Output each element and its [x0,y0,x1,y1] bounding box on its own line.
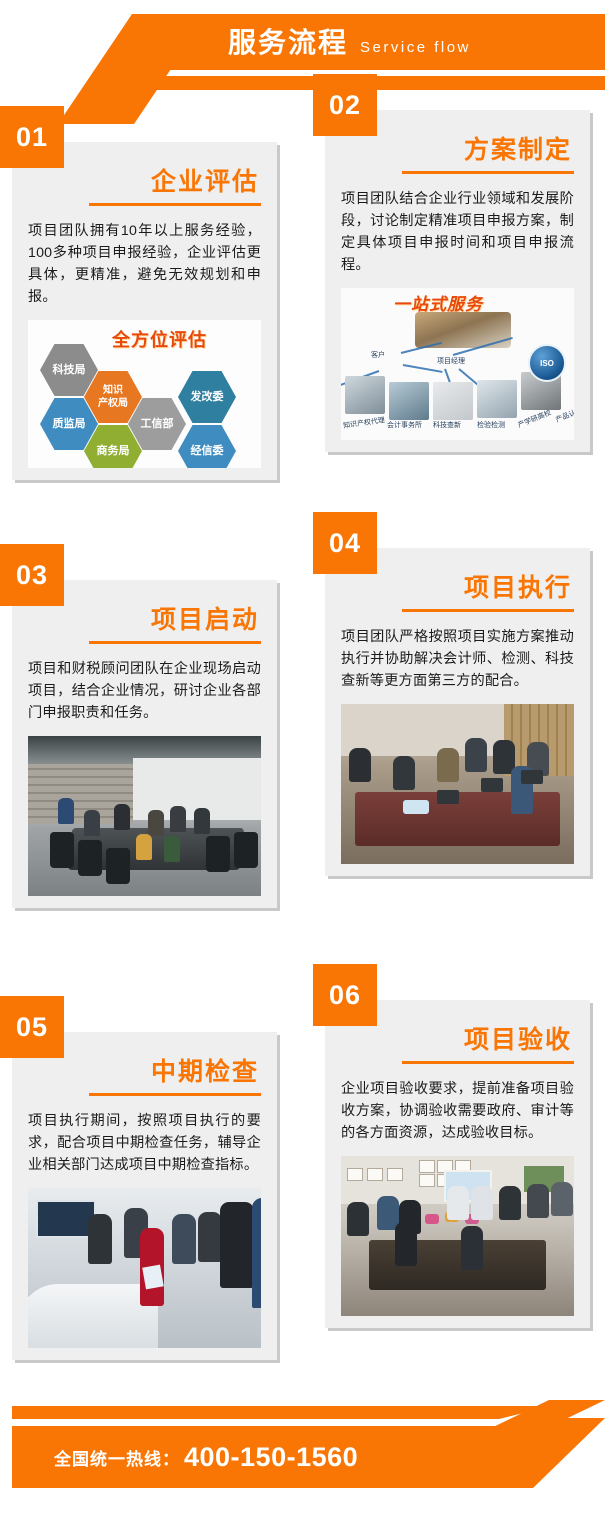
step-number-badge: 02 [313,74,377,136]
figure-title: 全方位评估 [112,326,207,352]
step-number-badge: 01 [0,106,64,168]
card-description: 项目和财税顾问团队在企业现场启动项目，结合企业情况，研讨企业各部门申报职责和任务… [28,658,261,724]
card-body: 方案制定 项目团队结合企业行业领域和发展阶段，讨论制定精准项目申报方案，制定具体… [325,110,590,452]
title-underline [89,203,261,206]
step-number-badge: 04 [313,512,377,574]
step-card-05[interactable]: 05 中期检查 项目执行期间，按照项目执行的要求，配合项目中期检查任务，辅导企业… [12,1032,277,1360]
card-body: 中期检查 项目执行期间，按照项目执行的要求，配合项目中期检查任务，辅导企业相关部… [12,1032,277,1360]
hotline-group: 全国统一热线： 400-150-1560 [54,1426,358,1488]
card-body: 项目验收 企业项目验收要求，提前准备项目验收方案，协调验收需要政府、审计等的各方… [325,1000,590,1328]
card-body: 企业评估 项目团队拥有10年以上服务经验，100多种项目申报经验，企业评估更具体… [12,142,277,480]
card-body: 项目启动 项目和财税顾问团队在企业现场启动项目，结合企业情况，研讨企业各部门申报… [12,580,277,908]
title-underline [402,609,574,612]
step-card-02[interactable]: 02 方案制定 项目团队结合企业行业领域和发展阶段，讨论制定精准项目申报方案，制… [325,110,590,452]
node-label-search: 科技查新 [433,420,461,430]
page-footer: 全国统一热线： 400-150-1560 [0,1400,605,1504]
card-title: 方案制定 [341,134,572,166]
footer-thin-stripe [12,1406,552,1419]
card-description: 项目团队拥有10年以上服务经验，100多种项目申报经验，企业评估更具体，更精准，… [28,220,261,308]
hex-node-jingxinwei: 经信委 [178,425,236,468]
hub-label-manager: 项目经理 [437,356,465,366]
hexagon-assessment-figure: 全方位评估 科技局 质监局 知识产权局 商务局 工信部 发改委 经信委 [28,320,261,468]
hotline-number[interactable]: 400-150-1560 [184,1442,358,1473]
card-title: 企业评估 [28,166,259,198]
node-label-ip: 知识产权代理 [343,415,386,431]
step-card-01[interactable]: 01 企业评估 项目团队拥有10年以上服务经验，100多种项目申报经验，企业评估… [12,142,277,480]
hotline-label: 全国统一热线： [54,1445,180,1470]
step-number-badge: 05 [0,996,64,1058]
card-description: 项目团队结合企业行业领域和发展阶段，讨论制定精准项目申报方案，制定具体项目申报时… [341,188,574,276]
hex-node-fagaiwei: 发改委 [178,371,236,423]
card-description: 项目团队严格按照项目实施方案推动执行并协助解决会计师、检测、科技查新等更方面第三… [341,626,574,692]
card-title: 项目执行 [341,572,572,604]
page-subtitle: Service flow [360,27,471,69]
node-inspection [477,380,517,418]
page-title: 服务流程 [228,22,348,64]
hub-label-customer: 客户 [371,350,385,360]
service-flow-infographic: 服务流程 Service flow 01 企业评估 项目团队拥有10年以上服务经… [0,0,605,1538]
step-card-04[interactable]: 04 项目执行 项目团队严格按照项目实施方案推动执行并协助解决会计师、检测、科技… [325,548,590,876]
card-description: 企业项目验收要求，提前准备项目验收方案，协调验收需要政府、审计等的各方面资源，达… [341,1078,574,1144]
card-title: 中期检查 [28,1056,259,1088]
step-number-badge: 06 [313,964,377,1026]
card-body: 项目执行 项目团队严格按照项目实施方案推动执行并协助解决会计师、检测、科技查新等… [325,548,590,876]
title-underline [89,1093,261,1096]
node-label-accounting: 会计事务所 [387,420,422,430]
page-header: 服务流程 Service flow [0,0,605,110]
showroom-visit-photo [28,1188,261,1348]
iso-seal-icon: ISO [528,344,566,382]
conference-acceptance-photo [341,1156,574,1316]
title-underline [89,641,261,644]
one-stop-service-figure: 一站式服务 客户 项目经理 ISO 知识产权代理 会计事务所 科技查新 [341,288,574,440]
meeting-room-photo [28,736,261,896]
header-title-group: 服务流程 Service flow [228,22,471,64]
step-card-03[interactable]: 03 项目启动 项目和财税顾问团队在企业现场启动项目，结合企业情况，研讨企业各部… [12,580,277,908]
step-number-badge: 03 [0,544,64,606]
step-card-06[interactable]: 06 项目验收 企业项目验收要求，提前准备项目验收方案，协调验收需要政府、审计等… [325,1000,590,1328]
card-description: 项目执行期间，按照项目执行的要求，配合项目中期检查任务，辅导企业相关部门达成项目… [28,1110,261,1176]
node-label-inspect: 检验检测 [477,420,505,430]
card-title: 项目验收 [341,1024,572,1056]
working-meeting-photo [341,704,574,864]
node-tech-search [433,382,473,420]
node-accounting [389,382,429,420]
title-underline [402,1061,574,1064]
node-ip-agency [345,376,385,414]
card-title: 项目启动 [28,604,259,636]
title-underline [402,171,574,174]
node-label-university: 产学研高校 [516,408,552,430]
